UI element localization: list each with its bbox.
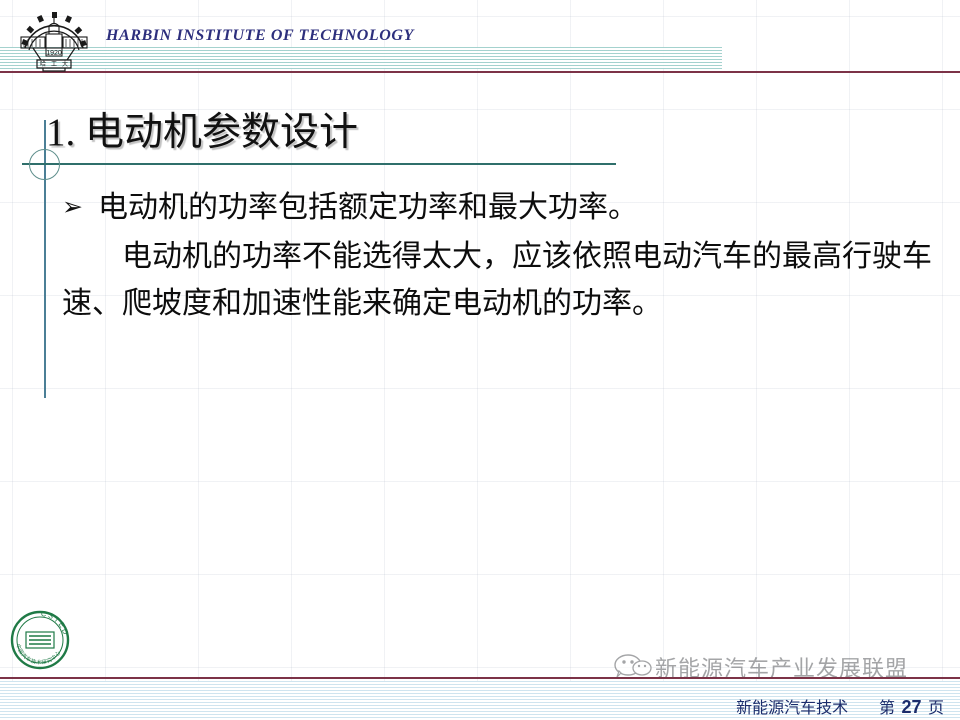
hit-crest-icon: 1920 哈 工 大: [13, 4, 95, 72]
body-content: ➢电动机的功率包括额定功率和最大功率。 电动机的功率不能选得太大，应该依照电动汽…: [62, 184, 942, 327]
footer-page-number: 27: [900, 697, 924, 717]
arrow-bullet-icon: ➢: [62, 184, 98, 231]
footer-course-label: 新能源汽车技术: [736, 700, 848, 717]
footer-bar: 新能源汽车技术 第 27 页: [0, 694, 944, 718]
title-circle-decoration: [29, 149, 60, 180]
page-title: 1. 电动机参数设计: [46, 101, 358, 157]
institution-name: HARBIN INSTITUTE OF TECHNOLOGY: [106, 27, 414, 45]
body-paragraph: 电动机的功率不能选得太大，应该依照电动汽车的最高行驶车速、爬坡度和加速性能来确定…: [62, 233, 942, 327]
header-divider-rule: [0, 71, 960, 73]
footer-page-suffix: 页: [928, 700, 944, 717]
cstedma-seal-icon: CSTEDMA 中国汽车技术研究中心: [8, 608, 72, 672]
footer-page-prefix: 第: [879, 700, 895, 717]
header-stripe-band: [0, 47, 722, 69]
footer-divider-rule: [0, 677, 960, 679]
svg-text:哈: 哈: [40, 60, 46, 68]
svg-text:大: 大: [62, 60, 68, 68]
title-underline-rule: [22, 163, 616, 165]
slide-canvas: 1920 哈 工 大 HARBIN INSTITUTE OF TECHNOLOG…: [0, 0, 960, 720]
bullet-list-item: ➢电动机的功率包括额定功率和最大功率。: [62, 184, 942, 231]
bullet-item-text: 电动机的功率包括额定功率和最大功率。: [98, 191, 638, 224]
svg-text:工: 工: [51, 61, 57, 68]
hit-logo-year: 1920: [46, 50, 62, 57]
